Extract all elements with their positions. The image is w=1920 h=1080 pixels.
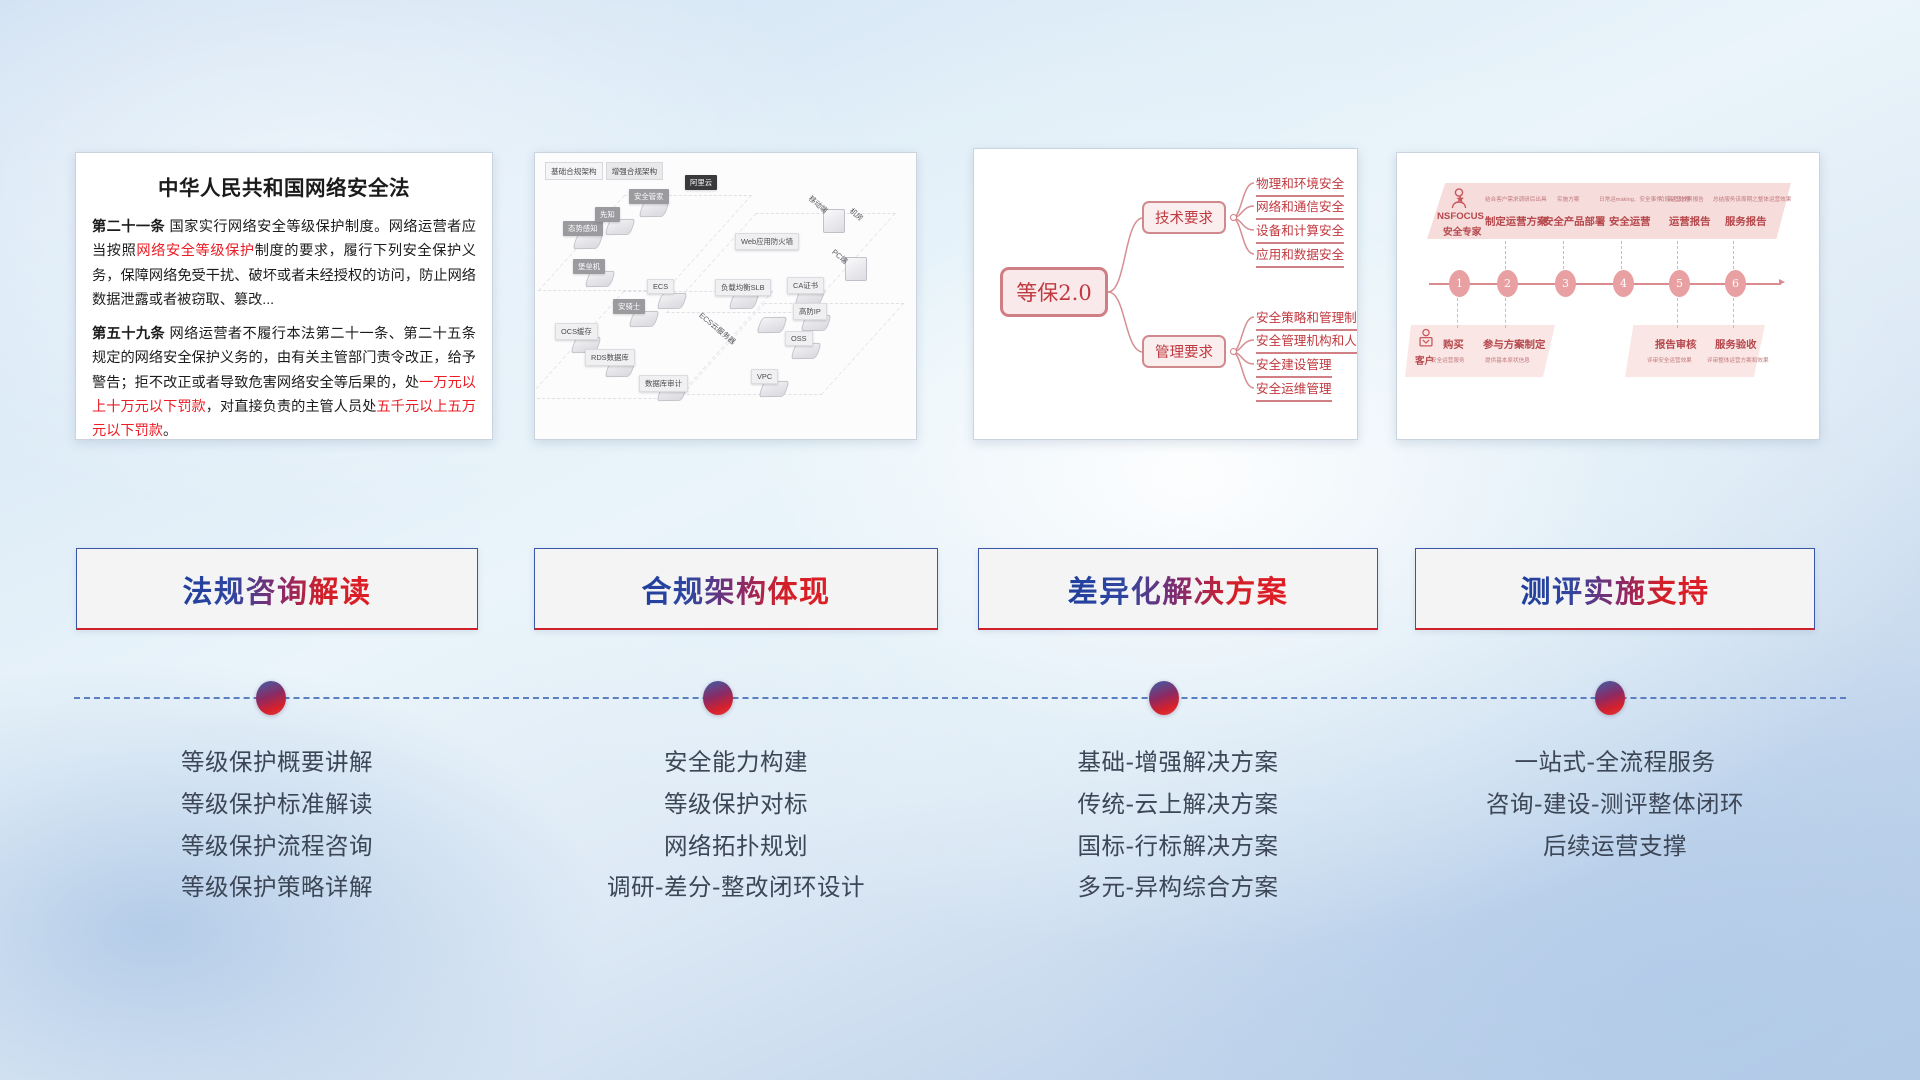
- list-item: 安全能力构建: [534, 742, 938, 784]
- list-item: 调研-差分-整改闭环设计: [534, 867, 938, 909]
- list-item: 等级保护流程咨询: [76, 826, 478, 868]
- slide-canvas: 中华人民共和国网络安全法 第二十一条 国家实行网络安全等级保护制度。网络运营者应…: [0, 0, 1920, 1080]
- feature-list-2: 安全能力构建 等级保护对标 网络拓扑规划 调研-差分-整改闭环设计: [534, 742, 938, 909]
- list-item: 等级保护对标: [534, 784, 938, 826]
- headings-row: 法规咨询解读 合规架构体现 差异化解决方案 测评实施支持 等级保护概要讲解 等级…: [0, 0, 1920, 1080]
- list-item: 多元-异构综合方案: [978, 867, 1378, 909]
- list-item: 一站式-全流程服务: [1415, 742, 1815, 784]
- timeline-dashed-line: [74, 697, 1846, 699]
- timeline-marker-1[interactable]: [256, 681, 286, 715]
- list-item: 等级保护策略详解: [76, 867, 478, 909]
- heading-label: 法规咨询解读: [183, 567, 372, 611]
- list-item: 咨询-建设-测评整体闭环: [1415, 784, 1815, 826]
- list-item: 基础-增强解决方案: [978, 742, 1378, 784]
- feature-list-3: 基础-增强解决方案 传统-云上解决方案 国标-行标解决方案 多元-异构综合方案: [978, 742, 1378, 909]
- list-item: 传统-云上解决方案: [978, 784, 1378, 826]
- list-item: 后续运营支撑: [1415, 826, 1815, 868]
- heading-label: 差异化解决方案: [1068, 567, 1289, 611]
- list-item: 等级保护标准解读: [76, 784, 478, 826]
- heading-box-3[interactable]: 差异化解决方案: [978, 548, 1378, 630]
- heading-box-4[interactable]: 测评实施支持: [1415, 548, 1815, 630]
- heading-label: 测评实施支持: [1521, 567, 1710, 611]
- heading-box-2[interactable]: 合规架构体现: [534, 548, 938, 630]
- timeline-marker-2[interactable]: [703, 681, 733, 715]
- list-item: 网络拓扑规划: [534, 826, 938, 868]
- heading-label: 合规架构体现: [642, 567, 831, 611]
- list-item: 等级保护概要讲解: [76, 742, 478, 784]
- heading-box-1[interactable]: 法规咨询解读: [76, 548, 478, 630]
- timeline-marker-4[interactable]: [1595, 681, 1625, 715]
- timeline-marker-3[interactable]: [1149, 681, 1179, 715]
- list-item: 国标-行标解决方案: [978, 826, 1378, 868]
- feature-list-1: 等级保护概要讲解 等级保护标准解读 等级保护流程咨询 等级保护策略详解: [76, 742, 478, 909]
- feature-list-4: 一站式-全流程服务 咨询-建设-测评整体闭环 后续运营支撑: [1415, 742, 1815, 867]
